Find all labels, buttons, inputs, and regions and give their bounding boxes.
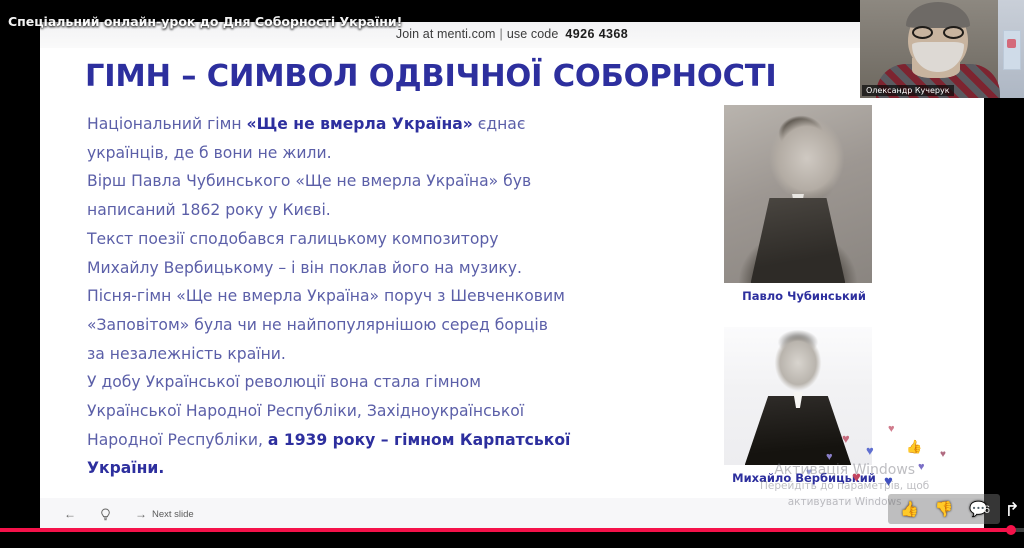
thumbs-up-icon[interactable]: 👍 xyxy=(900,500,919,518)
next-slide-label: Next slide xyxy=(152,509,194,520)
share-icon[interactable]: ↱ xyxy=(1004,499,1020,522)
menti-join-bar: Join at menti.com|use code4926 4368 xyxy=(40,27,984,41)
next-slide-button[interactable]: → Next slide xyxy=(135,508,194,520)
menti-separator: | xyxy=(500,27,503,41)
slide-text-line: Народної Республіки, а 1939 року – гімно… xyxy=(87,426,667,455)
slide-text-line: написаний 1862 року у Києві. xyxy=(87,196,667,225)
slide-text-line: Вірш Павла Чубинського «Ще не вмерла Укр… xyxy=(87,167,667,196)
slide-body-text: Національний гімн «Ще не вмерла Україна»… xyxy=(87,110,667,483)
slide-text-line: «Заповітом» була чи не найпопулярнішою с… xyxy=(87,311,667,340)
portrait-caption-1: Павло Чубинський xyxy=(724,289,884,303)
previous-slide-button[interactable]: ← xyxy=(64,508,76,520)
thumbs-down-icon[interactable]: 👎 xyxy=(935,500,954,518)
slide-text-line: У добу Української революції вона стала … xyxy=(87,368,667,397)
portrait-image-1 xyxy=(724,105,872,283)
slide-text-line: за незалежність країни. xyxy=(87,340,667,369)
slide-text-line: Михайлу Вербицькому – і він поклав його … xyxy=(87,254,667,283)
portrait-image-2 xyxy=(724,327,872,465)
arrow-left-icon: ← xyxy=(64,508,76,520)
video-player-stage: Join at menti.com|use code4926 4368 ГІМН… xyxy=(0,0,1024,548)
slide-text-line: Текст поезії сподобався галицькому компо… xyxy=(87,225,667,254)
slide-text-line: Пісня-гімн «Ще не вмерла Україна» поруч … xyxy=(87,282,667,311)
portrait-chubynskyi: Павло Чубинський xyxy=(724,105,884,303)
presentation-slide: Join at menti.com|use code4926 4368 ГІМН… xyxy=(40,22,984,530)
reaction-count: 6 xyxy=(984,504,990,516)
slide-text-line: України. xyxy=(87,454,667,483)
slide-title: ГІМН – СИМВОЛ ОДВІЧНОЇ СОБОРНОСТІ xyxy=(85,59,905,94)
menti-use-code-label: use code xyxy=(507,27,559,41)
hint-button[interactable] xyxy=(100,508,111,521)
stream-title: Спеціальний онлайн-урок до Дня Соборност… xyxy=(8,14,402,29)
slide-text-line: українців, де б вони не жили. xyxy=(87,139,667,168)
webcam-name-label: Олександр Кучерук xyxy=(862,85,954,96)
lightbulb-icon xyxy=(100,508,111,521)
glasses-icon xyxy=(912,26,964,39)
portrait-caption-2: Михайло Вербицький xyxy=(724,471,884,485)
arrow-right-icon: → xyxy=(135,508,147,520)
menti-join-text: Join at menti.com xyxy=(396,27,496,41)
slide-text-line: Національний гімн «Ще не вмерла Україна»… xyxy=(87,110,667,139)
portrait-verbytskyi: Михайло Вербицький xyxy=(724,327,884,485)
slide-text-line: Української Народної Республіки, Західно… xyxy=(87,397,667,426)
menti-code: 4926 4368 xyxy=(565,27,628,41)
slide-toolbar: ← → Next slide xyxy=(40,498,984,530)
video-progress-bar[interactable] xyxy=(0,528,1024,532)
webcam-overlay[interactable]: Олександр Кучерук xyxy=(860,0,1024,98)
webcam-poster xyxy=(1003,30,1021,70)
progress-knob[interactable] xyxy=(1006,525,1016,535)
progress-fill xyxy=(0,528,1009,532)
